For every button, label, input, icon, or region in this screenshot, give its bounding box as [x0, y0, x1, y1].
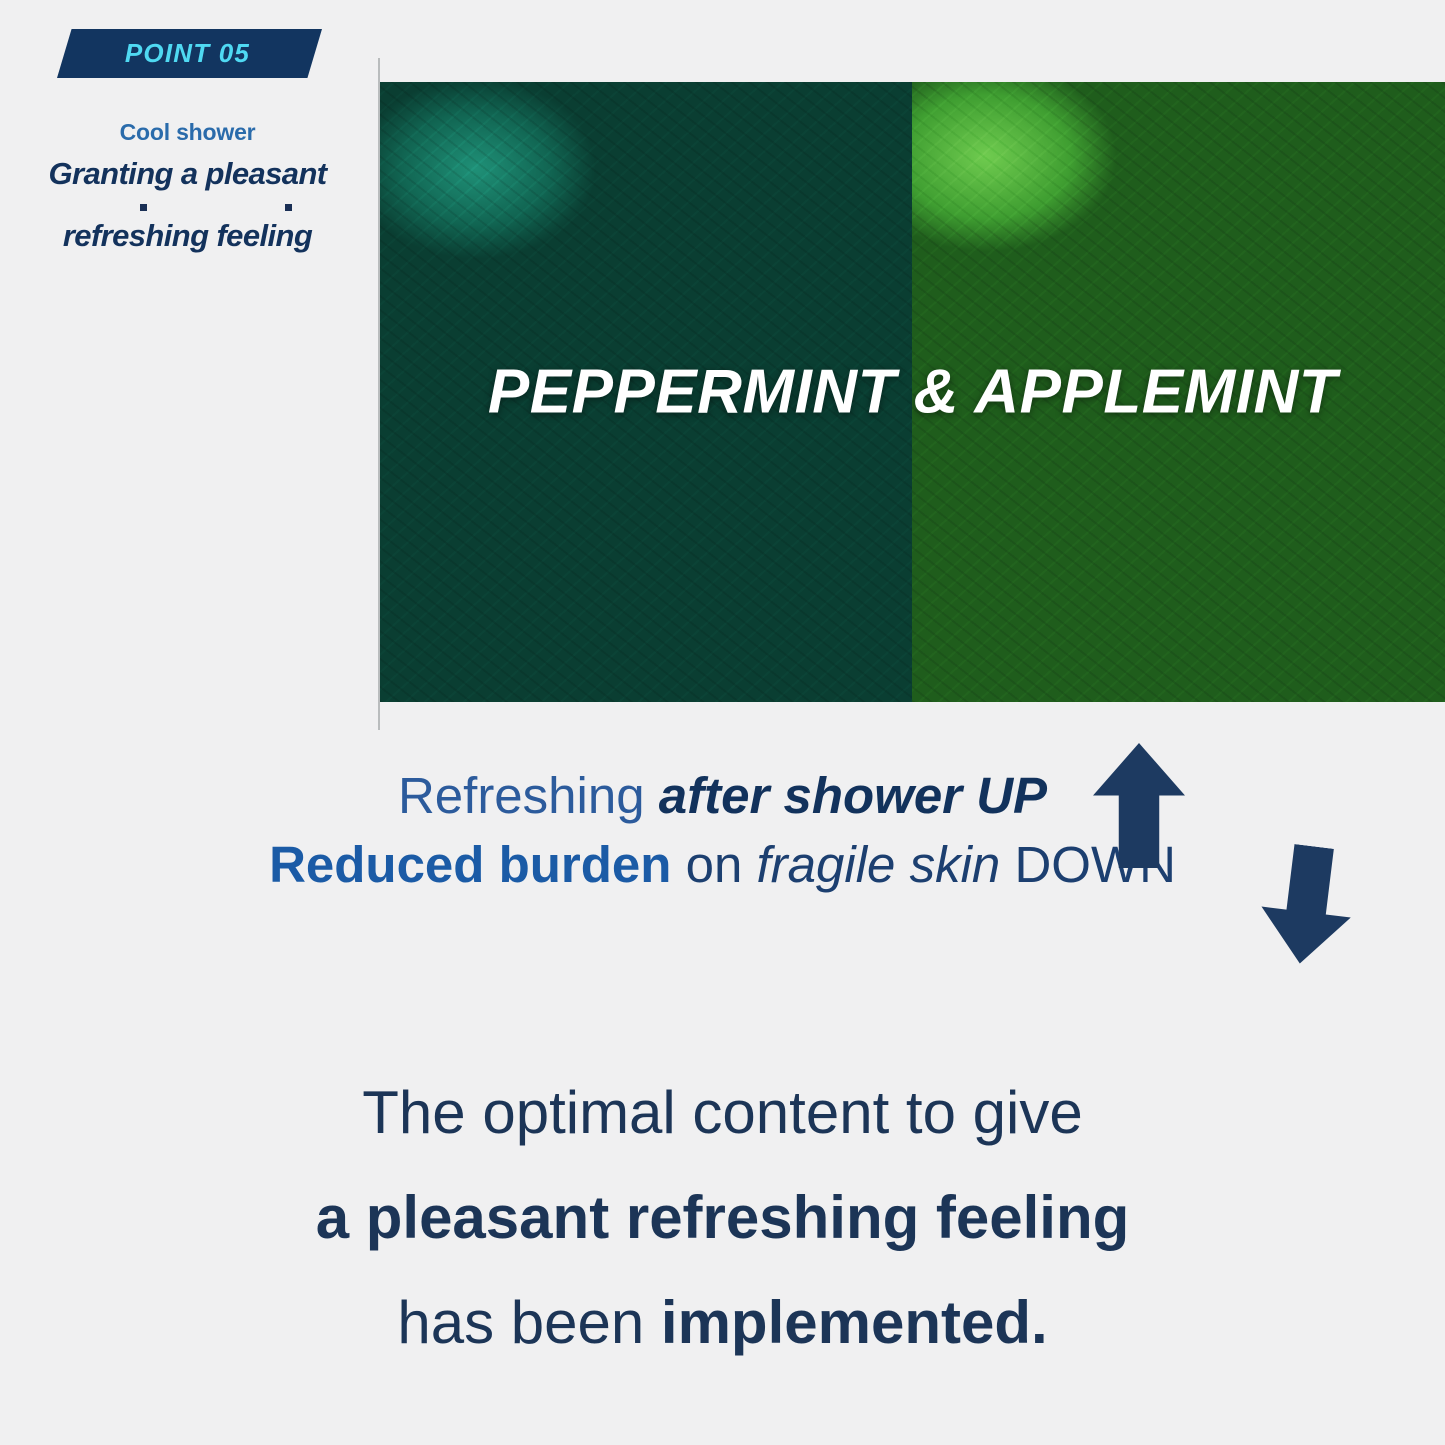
- emphasis-dot-icon: [140, 204, 147, 211]
- emphasis-dot-icon: [285, 204, 292, 211]
- mid-message-line1: Refreshing after shower UP: [0, 768, 1445, 823]
- bottom-message: The optimal content to give a pleasant r…: [0, 1082, 1445, 1354]
- mid-line1-emphasis: after shower UP: [659, 767, 1047, 824]
- heading-title-line2: refreshing feeling: [0, 216, 375, 256]
- mid-message: Refreshing after shower UP Reduced burde…: [0, 768, 1445, 892]
- bottom-line3: has been implemented.: [0, 1292, 1445, 1353]
- heading-title-line1: Granting a pleasant: [0, 154, 375, 194]
- mid-line2-italic: fragile skin: [757, 836, 1001, 893]
- point-badge-shape: POINT 05: [57, 29, 322, 78]
- mid-message-line2: Reduced burden on fragile skin DOWN: [0, 837, 1445, 892]
- heading-subtitle: Cool shower: [0, 118, 375, 147]
- ingredient-photo: PEPPERMINT & APPLEMINT: [380, 82, 1445, 702]
- heading-title: Granting a pleasant refreshing feeling: [0, 154, 375, 256]
- bottom-line1: The optimal content to give: [0, 1082, 1445, 1143]
- photo-caption: PEPPERMINT & APPLEMINT: [380, 357, 1445, 428]
- bottom-line3-regular: has been: [397, 1289, 661, 1356]
- mid-line2-regular: on: [671, 836, 756, 893]
- bottom-line3-emphasis: implemented.: [661, 1289, 1048, 1356]
- point-badge: POINT 05: [57, 29, 322, 78]
- mid-line2-emphasis: Reduced burden: [269, 836, 671, 893]
- bottom-line2: a pleasant refreshing feeling: [0, 1187, 1445, 1248]
- point-badge-label: POINT 05: [125, 38, 250, 69]
- slide-root: POINT 05 Cool shower Granting a pleasant…: [0, 0, 1445, 1445]
- mid-line1-regular: Refreshing: [398, 767, 659, 824]
- heading-block: Cool shower Granting a pleasant refreshi…: [0, 118, 375, 256]
